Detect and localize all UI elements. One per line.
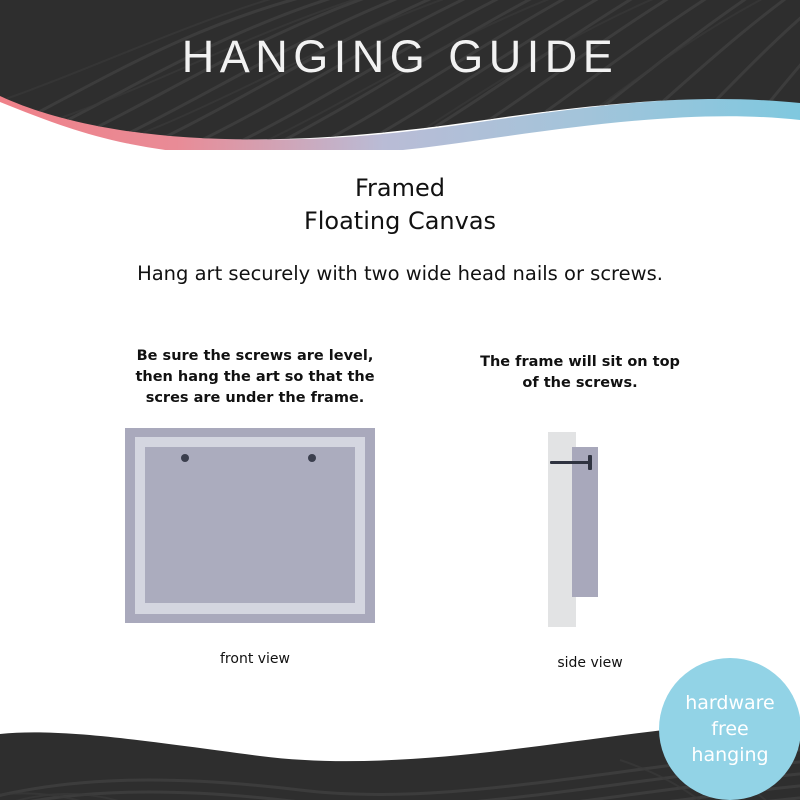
front-view-label: front view [155,651,355,667]
front-view-caption-line-3: scres are under the frame. [105,388,405,409]
front-view-canvas [145,447,355,603]
side-view-label: side view [490,655,690,671]
front-view-caption-line-1: Be sure the screws are level, [105,346,405,367]
product-title-line-2: Floating Canvas [0,205,800,238]
side-view-frame [572,447,598,597]
front-view-screw-dot-right [308,454,316,462]
front-view-caption: Be sure the screws are level, then hang … [105,346,405,409]
nail-head-icon [588,455,592,470]
badge-line-2: free [711,716,748,742]
product-title-line-1: Framed [355,174,445,202]
hardware-free-badge: hardware free hanging [659,658,800,800]
side-view-caption-line-2: of the screws. [455,373,705,394]
front-view-screw-dot-left [181,454,189,462]
header-banner: HANGING GUIDE [0,0,800,150]
front-view-diagram [125,428,375,623]
side-view-caption: The frame will sit on top of the screws. [455,352,705,394]
badge-line-1: hardware [685,690,775,716]
front-view-caption-line-2: then hang the art so that the [105,367,405,388]
side-view-diagram [548,430,628,628]
page-title: HANGING GUIDE [0,31,800,83]
badge-line-3: hanging [691,742,768,768]
hanging-guide-page: HANGING GUIDE Framed Floating Canvas Han… [0,0,800,800]
product-title: Framed Floating Canvas [0,172,800,238]
side-view-caption-line-1: The frame will sit on top [455,352,705,373]
lead-instruction: Hang art securely with two wide head nai… [0,261,800,287]
nail-icon [550,461,590,464]
